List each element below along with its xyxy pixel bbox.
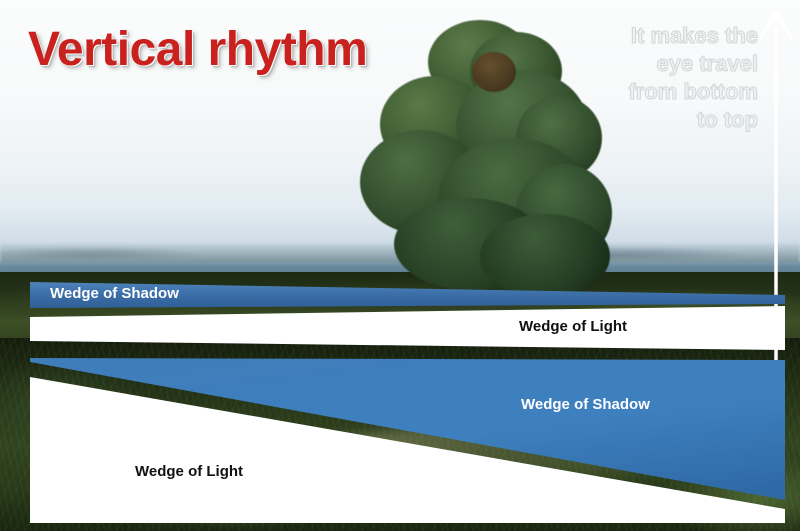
caption-line: eye travel <box>568 50 758 78</box>
tree-canopy-blob <box>480 214 610 298</box>
caption-line: It makes the <box>568 22 758 50</box>
upward-arrow-icon <box>758 6 794 476</box>
caption-text: It makes the eye travel from bottom to t… <box>568 22 758 134</box>
wedge-shadow-top-label: Wedge of Shadow <box>50 285 179 302</box>
wedge-light-bottom-label: Wedge of Light <box>135 463 243 480</box>
page-title: Vertical rhythm <box>28 22 367 77</box>
wedge-shadow-bottom-label: Wedge of Shadow <box>521 396 650 413</box>
caption-line: from bottom <box>568 78 758 106</box>
caption-line: to top <box>568 106 758 134</box>
tree-inner-branch-mass <box>472 52 516 92</box>
slide-canvas: Vertical rhythm It makes the eye travel … <box>0 0 800 531</box>
wedge-light-top-label: Wedge of Light <box>519 318 627 335</box>
